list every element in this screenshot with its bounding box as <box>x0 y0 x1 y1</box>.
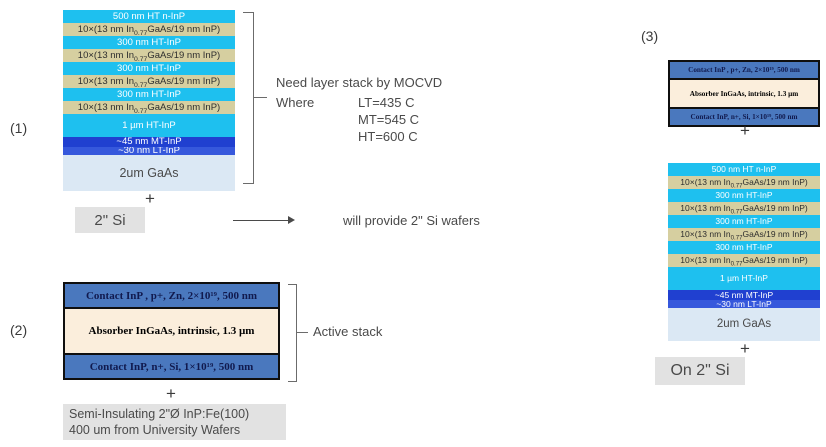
layer-lt-inp-10: ~30 nm LT-InP <box>63 147 235 155</box>
plus-sign-right: + <box>740 122 750 139</box>
active-layer-absorber: Absorber InGaAs, intrinsic, 1.3 µm <box>668 78 820 109</box>
active-layer-absorber: Absorber InGaAs, intrinsic, 1.3 µm <box>63 307 280 355</box>
layer-superlattice-5: 10×(13 nm In0.77GaAs/19 nm InP) <box>668 228 820 241</box>
active-device-stack-right: Contact InP , p+, Zn, 2×10¹⁹, 500 nmAbso… <box>668 60 820 127</box>
active-stack-bracket <box>288 284 297 382</box>
mt-temperature: MT=545 C <box>358 112 419 127</box>
on-si-wafer-box: On 2" Si <box>655 357 745 385</box>
lt-temperature: LT=435 C <box>358 95 415 110</box>
active-stack-bracket-tick <box>297 332 308 333</box>
layer-superlattice-7: 10×(13 nm In0.77GaAs/19 nm InP) <box>63 101 235 114</box>
layer-ht-inp-8: 1 µm HT-InP <box>63 114 235 137</box>
plus-sign-on-si: + <box>740 340 750 357</box>
layer-superlattice-1: 10×(13 nm In0.77GaAs/19 nm InP) <box>668 176 820 189</box>
flow-arrow-head <box>288 216 295 224</box>
layer-ht-inp-2: 300 nm HT-InP <box>63 36 235 49</box>
layer-superlattice-1: 10×(13 nm In0.77GaAs/19 nm InP) <box>63 23 235 36</box>
inp-fe-line-2: 400 um from University Wafers <box>69 422 240 438</box>
layer-superlattice-7: 10×(13 nm In0.77GaAs/19 nm InP) <box>668 254 820 267</box>
layer-gaas-11: 2um GaAs <box>668 308 820 341</box>
layer-gaas-11: 2um GaAs <box>63 155 235 191</box>
active-layer-contact-p: Contact InP , p+, Zn, 2×10¹⁹, 500 nm <box>63 282 280 309</box>
section-label-2: (2) <box>10 322 27 338</box>
stack-bracket <box>243 12 254 184</box>
si-wafer-box: 2" Si <box>75 207 145 233</box>
layer-lt-inp-10: ~30 nm LT-InP <box>668 300 820 308</box>
layer-ht-inp-4: 300 nm HT-InP <box>668 215 820 228</box>
active-layer-contact-p: Contact InP , p+, Zn, 2×10¹⁹, 500 nm <box>668 60 820 80</box>
inp-fe-line-1: Semi-Insulating 2"Ø InP:Fe(100) <box>69 406 249 422</box>
layer-ht-inp-6: 300 nm HT-InP <box>63 88 235 101</box>
layer-ht-inp-6: 300 nm HT-InP <box>668 241 820 254</box>
layer-ht-inp-4: 300 nm HT-InP <box>63 62 235 75</box>
where-label: Where <box>276 95 314 110</box>
layer-mt-inp-9: ~45 nm MT-InP <box>668 290 820 300</box>
flow-arrow-line <box>233 220 288 221</box>
section-label-1: (1) <box>10 120 27 136</box>
layer-superlattice-5: 10×(13 nm In0.77GaAs/19 nm InP) <box>63 75 235 88</box>
section-label-3: (3) <box>641 28 658 44</box>
ht-temperature: HT=600 C <box>358 129 418 144</box>
layer-ht-inp-0: 500 nm HT n-InP <box>63 10 235 23</box>
epitaxial-layer-stack-left: 500 nm HT n-InP10×(13 nm In0.77GaAs/19 n… <box>63 10 235 191</box>
plus-sign-active: + <box>166 385 176 402</box>
mocvd-note: Need layer stack by MOCVD <box>276 75 442 90</box>
layer-superlattice-3: 10×(13 nm In0.77GaAs/19 nm InP) <box>63 49 235 62</box>
epitaxial-layer-stack-right: 500 nm HT n-InP10×(13 nm In0.77GaAs/19 n… <box>668 163 820 341</box>
active-stack-annotation: Active stack <box>313 324 382 339</box>
layer-superlattice-3: 10×(13 nm In0.77GaAs/19 nm InP) <box>668 202 820 215</box>
layer-ht-inp-8: 1 µm HT-InP <box>668 267 820 290</box>
plus-sign-left: + <box>145 190 155 207</box>
layer-mt-inp-9: ~45 nm MT-InP <box>63 137 235 147</box>
active-layer-contact-n: Contact InP, n+, Si, 1×10¹⁹, 500 nm <box>63 353 280 380</box>
active-device-stack-left: Contact InP , p+, Zn, 2×10¹⁹, 500 nmAbso… <box>63 282 280 380</box>
provide-wafers-note: will provide 2" Si wafers <box>343 213 480 228</box>
layer-ht-inp-0: 500 nm HT n-InP <box>668 163 820 176</box>
stack-bracket-tick <box>254 97 267 98</box>
layer-ht-inp-2: 300 nm HT-InP <box>668 189 820 202</box>
inp-fe-substrate-box: Semi-Insulating 2"Ø InP:Fe(100) 400 um f… <box>63 404 286 440</box>
